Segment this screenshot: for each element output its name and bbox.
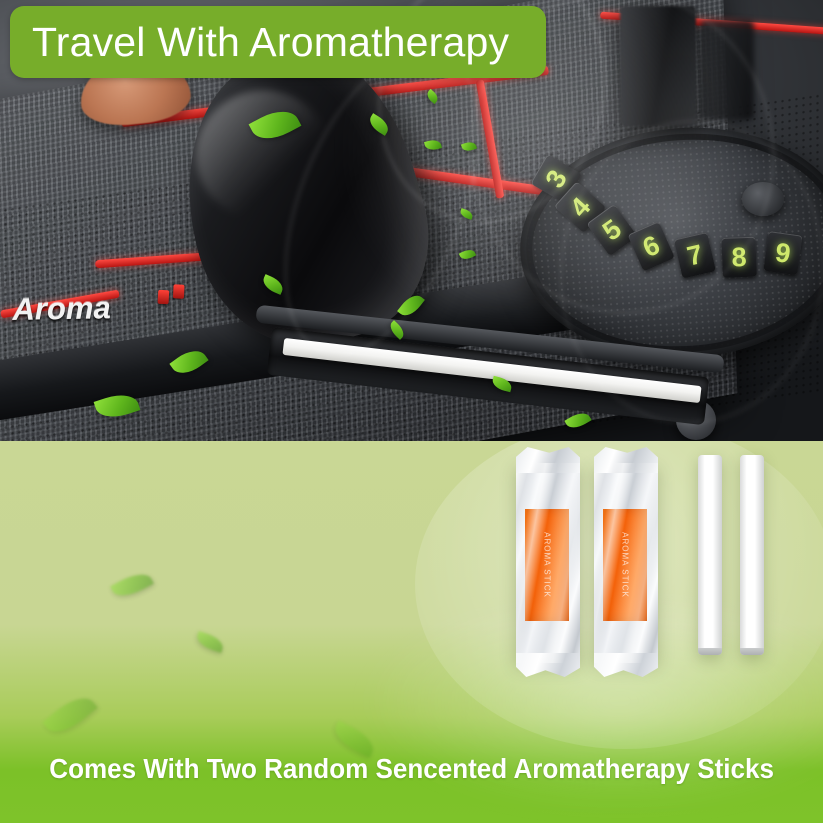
poster-title: Travel With Aromatherapy: [10, 19, 509, 66]
bottom-caption-text: Comes With Two Random Sencented Aromathe…: [49, 753, 774, 785]
logo-red-accent: [173, 284, 185, 299]
panel-leaf-icon: [195, 631, 226, 653]
bottom-caption-bar: Comes With Two Random Sencented Aromathe…: [0, 740, 823, 798]
white-aromatherapy-stick: [698, 455, 722, 655]
sachet-label-text: AROMA STICK: [621, 532, 630, 598]
product-marketing-poster: Aroma 3 4 5 6 7 8 9: [0, 0, 823, 823]
panel-leaf-icon: [110, 568, 154, 603]
white-aromatherapy-stick: [740, 455, 764, 655]
aroma-logo-text: Aroma: [12, 292, 111, 325]
title-banner: Travel With Aromatherapy: [10, 6, 546, 78]
lower-green-panel: AROMA STICK AROMA STICK: [0, 441, 823, 823]
panel-leaf-icon: [42, 689, 97, 741]
aromatherapy-sachet: AROMA STICK: [516, 463, 580, 663]
aromatherapy-sachet: AROMA STICK: [594, 463, 658, 663]
sachet-orange-label: AROMA STICK: [525, 509, 569, 621]
logo-red-accent: [158, 290, 170, 305]
sachet-orange-label: AROMA STICK: [603, 509, 647, 621]
sachet-label-text: AROMA STICK: [543, 532, 552, 598]
